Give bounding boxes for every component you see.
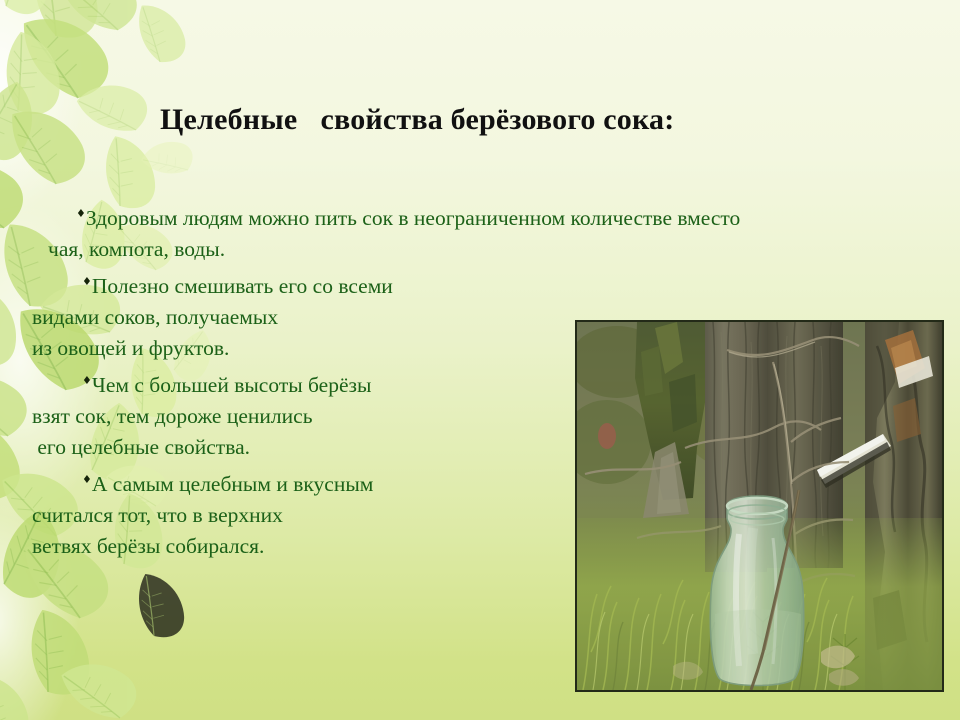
line-text: Чем с большей высоты берёзы — [92, 373, 372, 397]
paragraph-line: считался тот, что в верхних — [32, 500, 632, 531]
line-text: Здоровым людям можно пить сок в неограни… — [86, 206, 740, 230]
paragraph-line: ♦Здоровым людям можно пить сок в неогран… — [32, 198, 912, 234]
paragraph-line: чая, компота, воды. — [32, 234, 912, 265]
page-title: Целебные свойства берёзового сока: — [160, 103, 860, 138]
list-item: ♦Здоровым людям можно пить сок в неогран… — [32, 198, 912, 265]
diamond-bullet-icon: ♦ — [82, 365, 92, 396]
photo-image — [577, 322, 942, 690]
diamond-bullet-icon: ♦ — [82, 464, 92, 495]
diamond-bullet-icon: ♦ — [76, 198, 86, 229]
line-text: видами соков, получаемых — [32, 305, 278, 329]
line-text: взят сок, тем дороже ценились — [32, 404, 313, 428]
line-text: из овощей и фруктов. — [32, 336, 229, 360]
line-text: считался тот, что в верхних — [32, 503, 283, 527]
line-text: чая, компота, воды. — [48, 237, 225, 261]
diamond-bullet-icon: ♦ — [82, 266, 92, 297]
list-item: ♦А самым целебным и вкусным считался тот… — [32, 464, 632, 562]
paragraph-line: взят сок, тем дороже ценились — [32, 401, 592, 432]
paragraph-line: ♦Чем с большей высоты берёзы — [32, 365, 592, 401]
list-item: ♦Чем с большей высоты берёзы взят сок, т… — [32, 365, 592, 463]
paragraph-line: ♦А самым целебным и вкусным — [32, 464, 632, 500]
list-item: ♦Полезно смешивать его со всеми видами с… — [32, 266, 592, 364]
line-text: его целебные свойства. — [32, 435, 250, 459]
paragraph-line: ♦Полезно смешивать его со всеми — [32, 266, 592, 302]
paragraph-line: видами соков, получаемых — [32, 302, 592, 333]
slide-canvas: Целебные свойства берёзового сока: ♦Здор… — [0, 0, 960, 720]
line-text: А самым целебным и вкусным — [92, 472, 374, 496]
line-text: Полезно смешивать его со всеми — [92, 274, 393, 298]
paragraph-line: ветвях берёзы собирался. — [32, 531, 632, 562]
paragraph-line: из овощей и фруктов. — [32, 333, 592, 364]
birch-sap-photo — [575, 320, 944, 692]
line-text: ветвях берёзы собирался. — [32, 534, 264, 558]
paragraph-line: его целебные свойства. — [32, 432, 592, 463]
